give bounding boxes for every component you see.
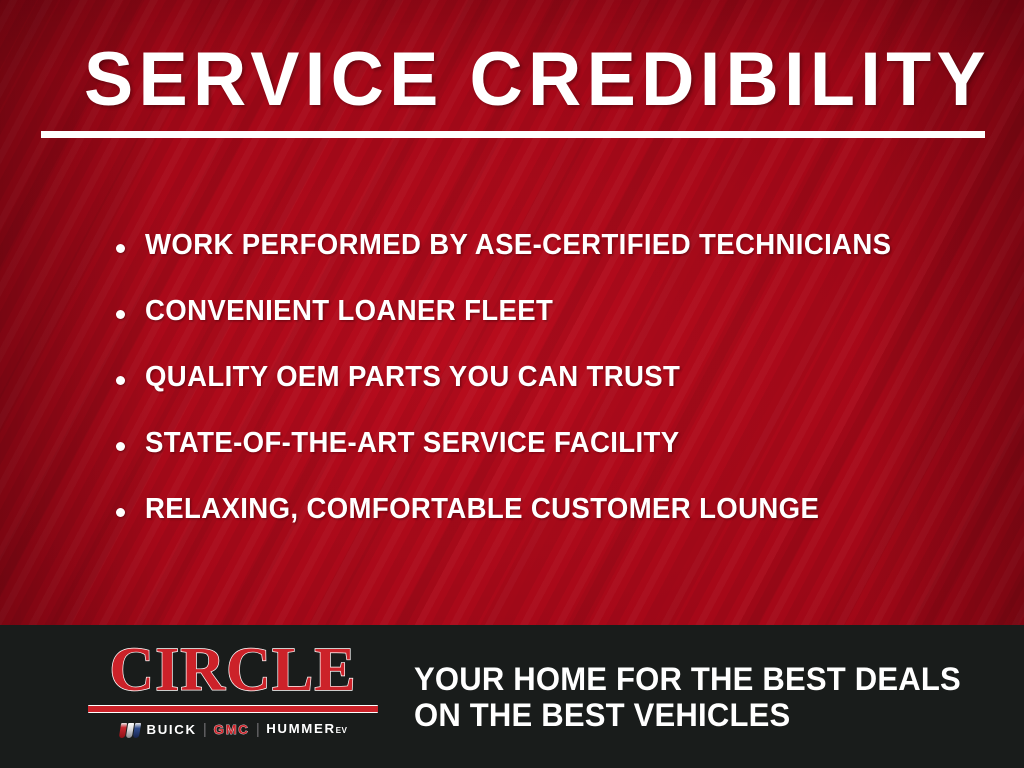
logo-underline-rule xyxy=(88,705,378,713)
page-title: SERVICE CREDIBILITY xyxy=(84,40,976,120)
slide-root: SERVICE CREDIBILITY WORK PERFORMED BY AS… xyxy=(0,0,1024,768)
list-item-label: CONVENIENT LOANER FLEET xyxy=(145,294,553,328)
list-item-label: STATE-OF-THE-ART SERVICE FACILITY xyxy=(145,426,679,460)
footer-tagline: YOUR HOME FOR THE BEST DEALS ON THE BEST… xyxy=(414,661,961,733)
brand-label-hummer-ev: EV xyxy=(335,726,347,735)
footer-tagline-line-2: ON THE BEST VEHICLES xyxy=(414,697,961,733)
brand-strip: BUICK | GMC | HUMMEREV xyxy=(88,721,378,739)
list-item: STATE-OF-THE-ART SERVICE FACILITY xyxy=(116,426,996,492)
list-item-label: QUALITY OEM PARTS YOU CAN TRUST xyxy=(145,360,680,394)
dealer-logo-wordmark: CIRCLE xyxy=(88,639,378,701)
bullet-dot-icon xyxy=(116,376,125,385)
list-item: RELAXING, COMFORTABLE CUSTOMER LOUNGE xyxy=(116,492,996,558)
brand-label-gmc: GMC xyxy=(213,723,249,737)
list-item-label: RELAXING, COMFORTABLE CUSTOMER LOUNGE xyxy=(145,492,819,526)
bullet-dot-icon xyxy=(116,244,125,253)
brand-label-buick: BUICK xyxy=(146,723,196,737)
brand-separator: | xyxy=(203,723,207,737)
footer-bar: CIRCLE BUICK | GMC | HUMMEREV YOUR HOME … xyxy=(0,625,1024,768)
bullet-dot-icon xyxy=(116,442,125,451)
bullet-dot-icon xyxy=(116,310,125,319)
footer-tagline-line-1: YOUR HOME FOR THE BEST DEALS xyxy=(414,661,961,697)
brand-label-hummer-text: HUMMER xyxy=(266,721,335,736)
brand-separator: | xyxy=(256,723,260,737)
bullet-list: WORK PERFORMED BY ASE-CERTIFIED TECHNICI… xyxy=(116,228,996,558)
buick-tri-shield-icon xyxy=(120,723,140,738)
list-item: WORK PERFORMED BY ASE-CERTIFIED TECHNICI… xyxy=(116,228,996,294)
title-underline-rule xyxy=(41,131,985,138)
list-item-label: WORK PERFORMED BY ASE-CERTIFIED TECHNICI… xyxy=(145,228,891,262)
dealer-logo: CIRCLE BUICK | GMC | HUMMEREV xyxy=(88,639,378,739)
list-item: QUALITY OEM PARTS YOU CAN TRUST xyxy=(116,360,996,426)
bullet-dot-icon xyxy=(116,508,125,517)
brand-label-hummer: HUMMEREV xyxy=(266,722,347,738)
list-item: CONVENIENT LOANER FLEET xyxy=(116,294,996,360)
